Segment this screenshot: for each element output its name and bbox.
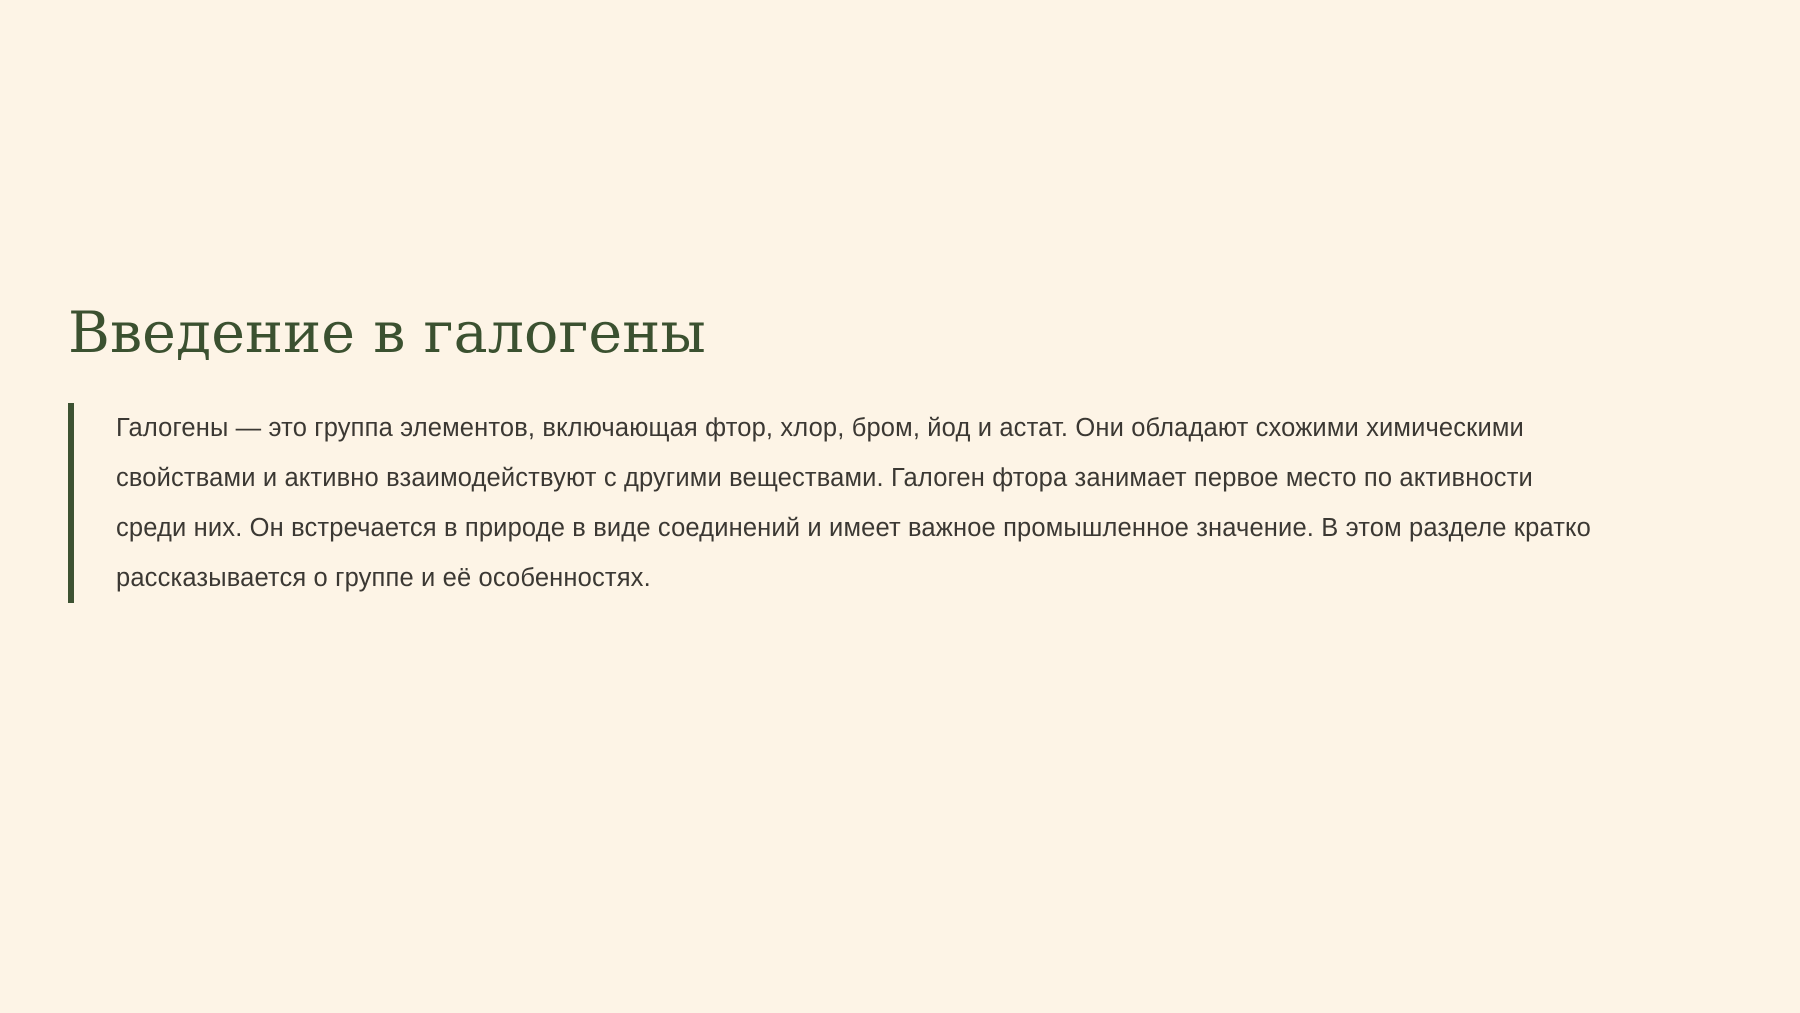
slide-canvas: Введение в галогены Галогены — это групп…	[0, 0, 1800, 1013]
page-title: Введение в галогены	[68, 300, 1730, 367]
content-block: Введение в галогены Галогены — это групп…	[68, 300, 1730, 603]
lead-callout: Галогены — это группа элементов, включаю…	[68, 403, 1730, 603]
lead-paragraph: Галогены — это группа элементов, включаю…	[74, 403, 1606, 603]
